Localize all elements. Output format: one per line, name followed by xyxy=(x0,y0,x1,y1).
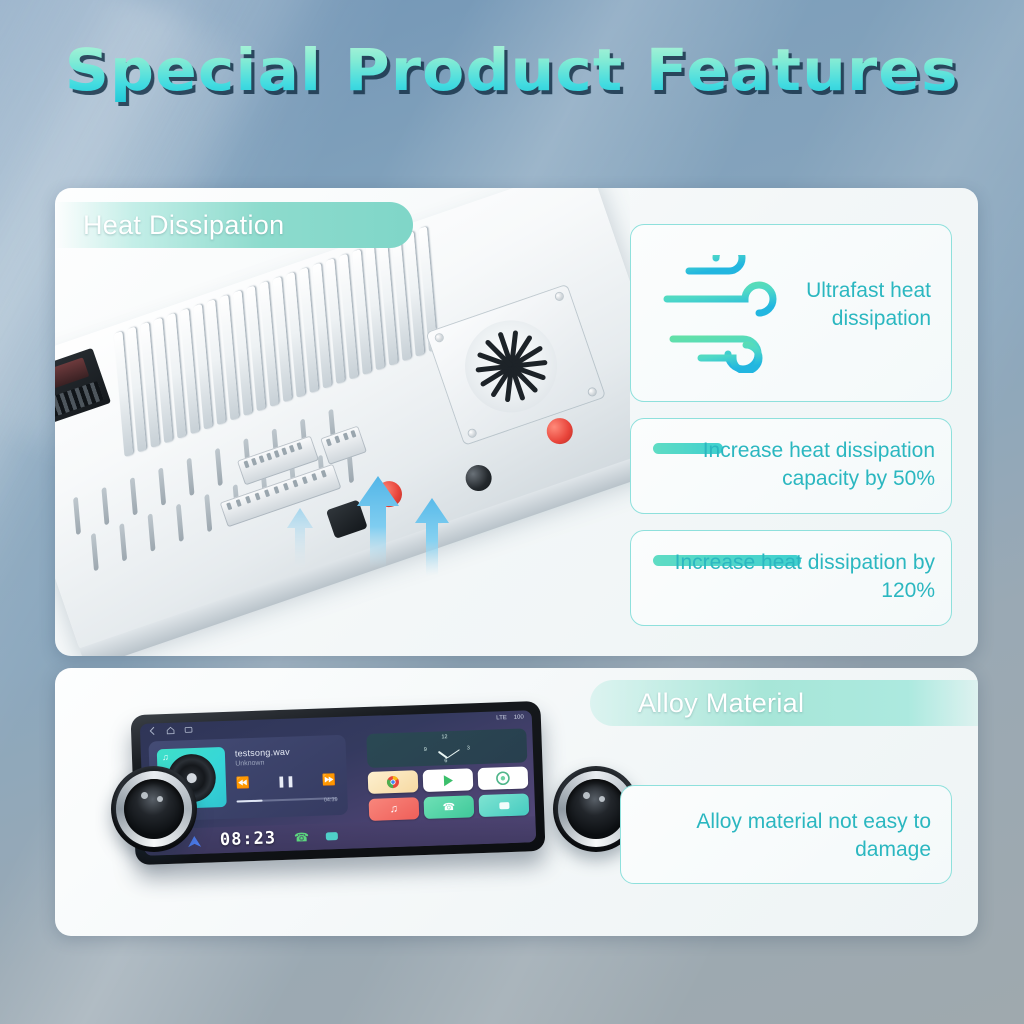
screw-icon xyxy=(435,333,444,342)
phone-app-icon[interactable]: ☎ xyxy=(424,795,475,819)
section-card-alloy-material: LTE 100 ♫ testsong.wav Unknown xyxy=(55,668,978,936)
play-store-app-icon[interactable] xyxy=(423,768,474,792)
section-card-heat-dissipation: Heat Dissipation Ultra xyxy=(55,188,978,656)
cooling-fan-vent xyxy=(453,308,570,425)
airflow-arrow-icon xyxy=(355,476,401,568)
device-screen[interactable]: LTE 100 ♫ testsong.wav Unknown xyxy=(140,710,536,856)
right-panel: 12 3 6 9 xyxy=(366,728,529,818)
vent-slot xyxy=(91,533,99,572)
chrome-app-icon[interactable] xyxy=(368,770,419,794)
clock-numeral: 9 xyxy=(424,747,427,753)
stereo-back-panel xyxy=(55,188,630,654)
browser-app-icon[interactable] xyxy=(478,766,529,790)
volume-knob-left[interactable] xyxy=(111,766,197,852)
clock-face: 12 3 6 9 xyxy=(423,733,470,765)
skip-previous-icon[interactable]: ⏪ xyxy=(236,776,250,789)
feature-text: Alloy material not easy to damage xyxy=(641,808,931,864)
head-unit-device: LTE 100 ♫ testsong.wav Unknown xyxy=(131,701,546,865)
vent-slot xyxy=(130,477,138,516)
message-icon[interactable] xyxy=(325,830,339,842)
battery-label: 100 xyxy=(514,714,524,720)
recents-icon[interactable] xyxy=(184,725,193,734)
clock-widget[interactable]: 12 3 6 9 xyxy=(366,728,527,768)
feature-box-alloy-material[interactable]: Alloy material not easy to damage xyxy=(620,785,952,884)
screw-icon xyxy=(555,292,564,301)
clock-time: 08:23 xyxy=(220,828,277,850)
back-icon[interactable] xyxy=(148,726,157,735)
skip-next-icon[interactable]: ⏩ xyxy=(322,773,336,786)
feature-box-capacity-50[interactable]: Increase heat dissipation capacity by 50… xyxy=(630,418,952,514)
section-tag-alloy-material: Alloy Material xyxy=(590,680,978,726)
pause-icon[interactable]: ❚❚ xyxy=(276,774,295,788)
phone-icon[interactable]: ☎ xyxy=(294,830,309,845)
song-title: testsong.wav xyxy=(235,747,290,759)
vent-slot xyxy=(204,494,212,533)
clock-numeral: 12 xyxy=(441,734,447,740)
signal-label: LTE xyxy=(496,715,507,721)
airflow-arrow-icon xyxy=(413,498,451,576)
vent-slot xyxy=(176,503,184,542)
clock-numeral: 6 xyxy=(444,758,447,764)
vent-slot xyxy=(148,513,156,552)
home-icon[interactable] xyxy=(166,725,175,734)
song-artist: Unknown xyxy=(235,760,264,768)
section-tag-label: Heat Dissipation xyxy=(83,210,284,241)
device-bottom-bar[interactable]: 08:23 ☎ xyxy=(144,816,537,856)
vent-slot xyxy=(158,467,166,506)
playback-controls[interactable]: ⏪ ❚❚ ⏩ xyxy=(236,773,336,789)
airflow-arrow-icon xyxy=(285,508,315,568)
screw-icon xyxy=(588,387,597,396)
vent-slot xyxy=(187,457,195,496)
feature-text: Ultrafast heat dissipation xyxy=(756,277,931,333)
playback-progress-bar[interactable] xyxy=(237,797,337,802)
clock-minute-hand xyxy=(447,749,460,758)
feature-text: Increase heat dissipation by 120% xyxy=(645,549,935,605)
feature-box-ultrafast-heat[interactable]: Ultrafast heat dissipation xyxy=(630,224,952,402)
screen-bezel: LTE 100 ♫ testsong.wav Unknown xyxy=(131,701,546,865)
section-tag-heat-dissipation: Heat Dissipation xyxy=(55,202,413,248)
navigation-arrow-icon[interactable] xyxy=(187,834,202,848)
page-title-container: Special Product Features xyxy=(0,36,1024,104)
playback-time: 04:39 xyxy=(324,797,338,803)
product-feature-poster: Special Product Features xyxy=(0,0,1024,1024)
music-app-icon[interactable]: ♫ xyxy=(369,797,420,821)
feature-text: Increase heat dissipation capacity by 50… xyxy=(645,437,935,493)
screw-icon xyxy=(468,429,477,438)
feature-box-dissipation-120[interactable]: Increase heat dissipation by 120% xyxy=(630,530,952,626)
vent-slot xyxy=(101,487,109,526)
heatsink-product-photo xyxy=(55,188,630,656)
page-title: Special Product Features xyxy=(65,36,959,104)
messages-app-icon[interactable] xyxy=(479,793,530,817)
section-tag-label: Alloy Material xyxy=(638,688,804,719)
music-note-icon: ♫ xyxy=(162,752,169,762)
vent-slot xyxy=(119,523,127,562)
app-grid[interactable]: ♫ ☎ xyxy=(368,766,530,821)
status-right-group: LTE 100 xyxy=(496,714,524,721)
vent-slot xyxy=(215,448,223,487)
head-unit-product-photo: LTE 100 ♫ testsong.wav Unknown xyxy=(95,690,675,930)
clock-numeral: 3 xyxy=(467,745,470,751)
